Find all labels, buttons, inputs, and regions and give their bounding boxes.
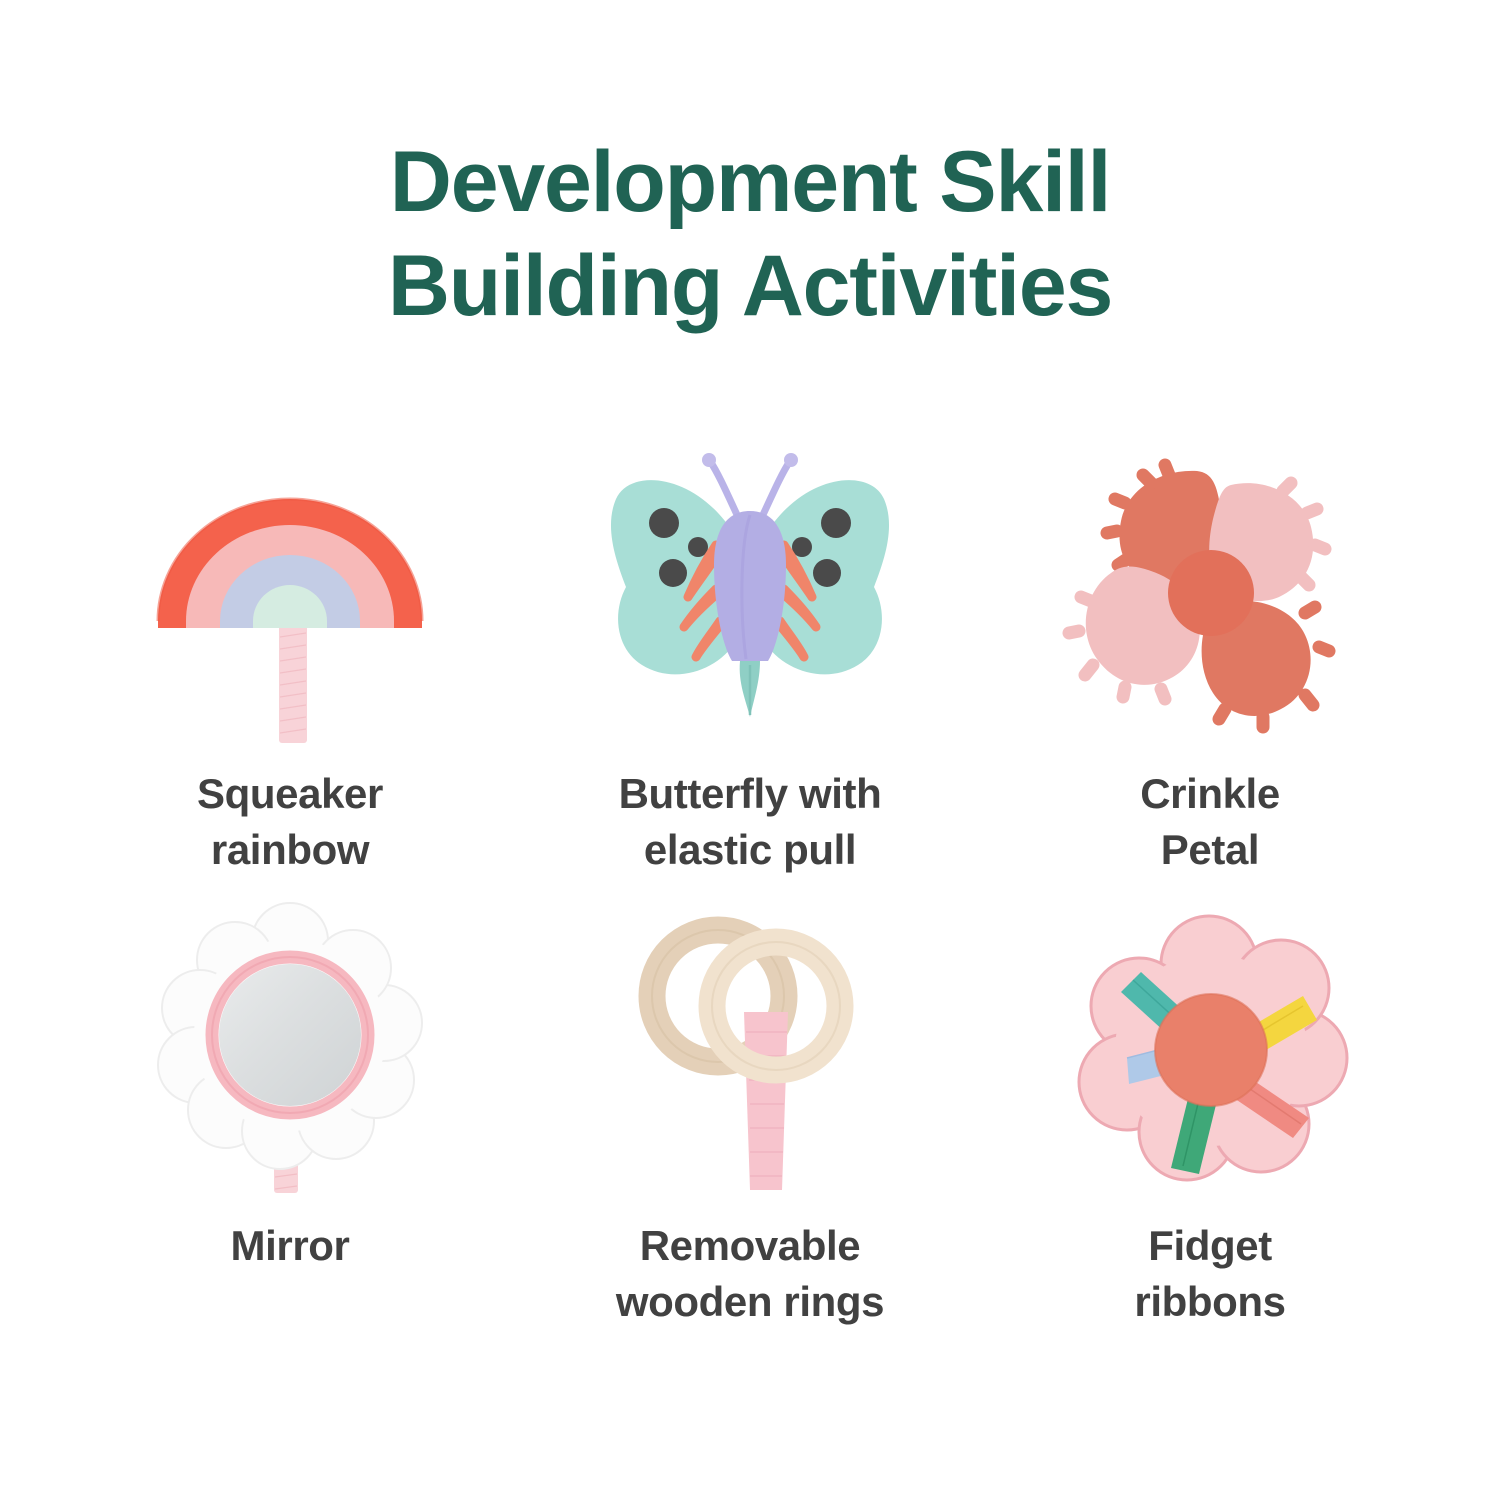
crinkle-flower-icon (1040, 430, 1380, 760)
activity-card-butterfly: Butterfly with elastic pull (520, 430, 980, 900)
caption-line-1: Mirror (231, 1222, 350, 1269)
fidget-flower-svg (1065, 910, 1355, 1190)
butterfly-plush-svg (590, 445, 910, 745)
caption-line-1: Squeaker (197, 770, 383, 817)
activity-caption: Fidget ribbons (1010, 1218, 1410, 1330)
caption-line-1: Fidget (1148, 1222, 1272, 1269)
butterfly-plush-icon (580, 430, 920, 760)
wooden-rings-icon (580, 900, 920, 1200)
fidget-flower-icon (1040, 900, 1380, 1200)
activity-card-crinkle-petal: Crinkle Petal (980, 430, 1440, 900)
activity-caption: Crinkle Petal (1010, 766, 1410, 878)
page-title: Development Skill Building Activities (0, 130, 1500, 338)
ruffled-mirror-svg (150, 905, 430, 1195)
crinkle-flower-svg (1065, 455, 1355, 735)
activity-card-wooden-rings: Removable wooden rings (520, 900, 980, 1370)
caption-line-1: Removable (640, 1222, 861, 1269)
caption-line-2: rainbow (211, 826, 369, 873)
rainbow-plush-svg (140, 435, 440, 755)
activities-grid: Squeaker rainbow (60, 430, 1440, 1370)
activity-caption: Removable wooden rings (550, 1218, 950, 1330)
activity-caption: Squeaker rainbow (90, 766, 490, 878)
caption-line-2: wooden rings (616, 1278, 884, 1325)
activity-caption: Butterfly with elastic pull (550, 766, 950, 878)
rainbow-plush-icon (120, 430, 460, 760)
activity-card-mirror: Mirror (60, 900, 520, 1370)
caption-line-2: Petal (1161, 826, 1259, 873)
activity-card-squeaker-rainbow: Squeaker rainbow (60, 430, 520, 900)
activity-card-fidget-ribbons: Fidget ribbons (980, 900, 1440, 1370)
page-title-line-2: Building Activities (0, 234, 1500, 338)
page-title-line-1: Development Skill (0, 130, 1500, 234)
caption-line-1: Butterfly with (619, 770, 882, 817)
wooden-rings-svg (610, 900, 890, 1200)
infographic-page: Development Skill Building Activities (0, 0, 1500, 1500)
caption-line-1: Crinkle (1140, 770, 1280, 817)
caption-line-2: elastic pull (644, 826, 856, 873)
activity-caption: Mirror (90, 1218, 490, 1274)
ruffled-mirror-icon (120, 900, 460, 1200)
caption-line-2: ribbons (1134, 1278, 1285, 1325)
